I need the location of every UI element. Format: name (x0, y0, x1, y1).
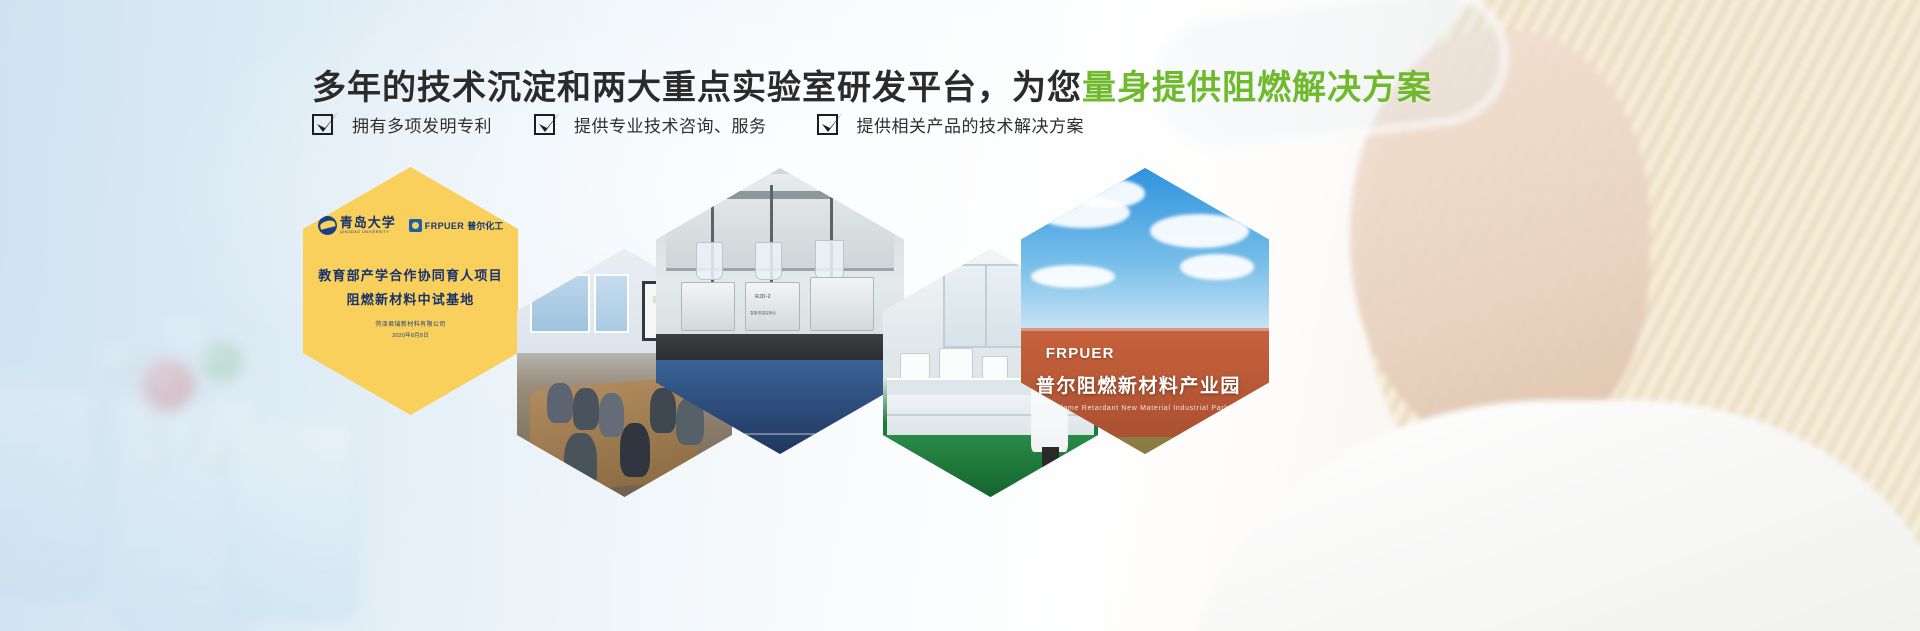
certificate-date: 2020年8月8日 (303, 331, 518, 339)
certificate-hexagon[interactable]: 青岛大学 QINGDAO UNIVERSITY FRPUER 普尔化工 教育部产… (303, 167, 518, 415)
instrument (939, 348, 973, 380)
person (573, 388, 599, 430)
person (620, 423, 650, 478)
window (594, 274, 628, 334)
instrument (982, 356, 1008, 381)
certificate-line-1: 教育部产学合作协同育人项目 (303, 265, 518, 284)
qingdao-university-logo: 青岛大学 QINGDAO UNIVERSITY (318, 216, 396, 235)
instrument (745, 282, 800, 331)
sign-brand: FRPUER (1046, 345, 1115, 362)
equipment-rack (681, 191, 879, 200)
frpuer-logo: FRPUER 普尔化工 (409, 219, 503, 232)
cloud (1071, 179, 1145, 208)
cloud (1150, 214, 1249, 248)
instrument (681, 282, 736, 331)
university-name-en: QINGDAO UNIVERSITY (340, 231, 396, 235)
person (547, 383, 573, 423)
lab-bench (656, 334, 904, 360)
company-emblem-icon (409, 219, 422, 232)
sky (1021, 168, 1269, 328)
person (599, 393, 625, 438)
university-emblem-icon (318, 216, 337, 235)
certificate-line-2: 阻燃新材料中试基地 (303, 289, 518, 308)
cloud (1031, 265, 1115, 288)
glass-flask (755, 242, 782, 279)
person (650, 388, 676, 433)
cloud (1180, 254, 1254, 280)
device-label: RJD-2 (755, 294, 771, 300)
glass-flask (815, 240, 845, 280)
instrument (900, 353, 930, 380)
sign-title-cn: 普尔阻燃新材料产业园 (1036, 371, 1241, 398)
university-name-cn: 青岛大学 (340, 216, 396, 229)
company-name-en: FRPUER (425, 221, 464, 231)
hero-banner: 多年的技术沉淀和两大重点实验室研发平台，为您量身提供阻燃解决方案 拥有多项发明专… (0, 0, 1920, 631)
hexagon-gallery: 青岛大学 QINGDAO UNIVERSITY FRPUER 普尔化工 教育部产… (0, 0, 1920, 631)
certificate-plaque: 青岛大学 QINGDAO UNIVERSITY FRPUER 普尔化工 教育部产… (303, 167, 518, 415)
certificate-logos: 青岛大学 QINGDAO UNIVERSITY FRPUER 普尔化工 (303, 216, 518, 235)
company-name-cn: 普尔化工 (467, 219, 503, 232)
glass-cabinet (943, 264, 1029, 348)
certificate-company: 菏泽君瑞新材料有限公司 (303, 319, 518, 328)
technician-legs (1042, 447, 1059, 474)
person (564, 433, 596, 493)
instrument (810, 277, 874, 331)
glass-flask (696, 242, 723, 279)
device-sublabel: 智能恒温控制仪 (750, 311, 776, 316)
window (530, 274, 590, 334)
